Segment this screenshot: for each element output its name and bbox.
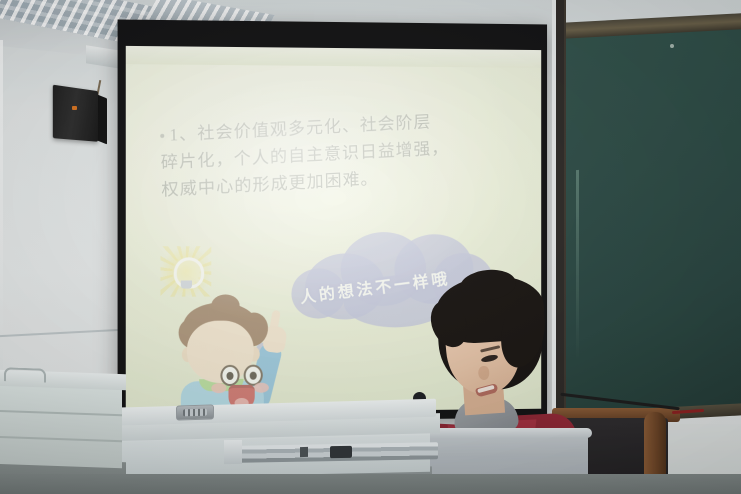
side-cabinet[interactable] [0, 382, 122, 468]
presenter-teeth [477, 385, 494, 393]
cartoon-boy-eye [220, 365, 239, 386]
cartoon-boy-cheek [254, 383, 269, 393]
lectern-lid-latch[interactable] [176, 404, 214, 420]
cartoon-boy-cheek [211, 383, 226, 393]
drawer-rail-end-cap [224, 440, 242, 464]
floor [0, 474, 741, 494]
hair-lobe [211, 294, 239, 316]
speaker-power-led-icon [72, 106, 77, 110]
wall-speaker-icon [53, 85, 98, 142]
pupil [226, 372, 233, 380]
drawer-rail-stop [300, 447, 308, 457]
cartoon-boy [167, 296, 298, 413]
slide-body-text: 1、社会价值观多元化、社会阶层 碎片化，个人的自主意识日益增强， 权威中心的形成… [160, 103, 541, 204]
presenter-eye [481, 354, 499, 364]
presenter-nose [478, 366, 490, 381]
drawer-rail-latch[interactable] [330, 446, 352, 458]
lightbulb-base [181, 280, 192, 288]
lecture-hall-photo: 1、社会价值观多元化、社会阶层 碎片化，个人的自主意识日益增强， 权威中心的形成… [0, 0, 741, 494]
cartoon-boy-face [187, 320, 254, 383]
cabinet-handle-icon[interactable] [4, 367, 46, 382]
chalkboard-mark [670, 44, 674, 48]
presenter-eyebrow [480, 345, 500, 352]
pupil [250, 372, 257, 380]
latch-teeth-icon [183, 409, 207, 417]
bullet-point-icon [160, 133, 164, 137]
